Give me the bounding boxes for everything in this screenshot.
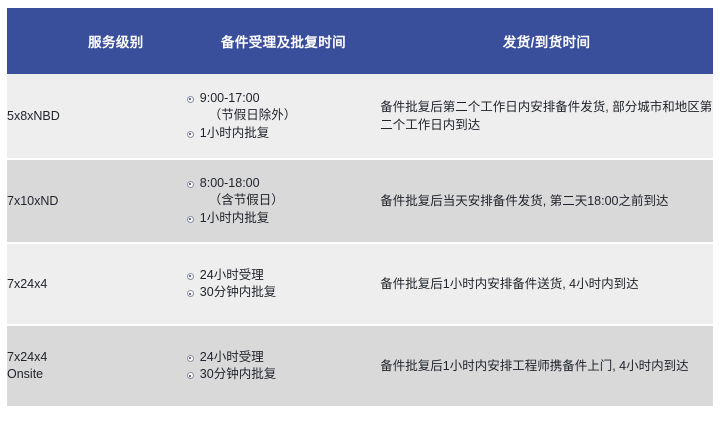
list-item-label: 24小时受理 [200, 268, 264, 282]
service-level-table: 服务级别 备件受理及批复时间 发货/到货时间 5x8xNBD 9:00-17:0… [7, 8, 713, 406]
column-header-acceptance-time: 备件受理及批复时间 [187, 8, 380, 74]
table-row: 7x24x4 24小时受理 30分钟内批复 备件批复后1小时内安排备件送货, 4… [7, 244, 713, 326]
radio-bullet-icon [187, 96, 194, 103]
column-header-service-level: 服务级别 [7, 8, 187, 74]
cell-shipping-time: 备件批复后第二个工作日内安排备件发货, 部分城市和地区第二个工作日内到达 [380, 74, 713, 160]
list-item-label: 30分钟内批复 [200, 285, 276, 299]
radio-bullet-icon [187, 290, 194, 297]
table-row: 5x8xNBD 9:00-17:00 （节假日除外） 1小时内批复 备件批复后第… [7, 74, 713, 160]
table-header-row: 服务级别 备件受理及批复时间 发货/到货时间 [7, 8, 713, 74]
radio-bullet-icon [187, 131, 194, 138]
radio-bullet-icon [187, 273, 194, 280]
list-item: 1小时内批复 [187, 125, 380, 143]
list-item: 8:00-18:00 [187, 175, 380, 193]
table-row: 7x24x4 Onsite 24小时受理 30分钟内批复 备件批复后1小时内安排… [7, 326, 713, 406]
cell-service-level: 7x24x4 Onsite [7, 326, 187, 406]
radio-bullet-icon [187, 181, 194, 188]
list-item-label: 30分钟内批复 [200, 367, 276, 381]
list-item: 1小时内批复 [187, 210, 380, 228]
cell-shipping-time: 备件批复后1小时内安排备件送货, 4小时内到达 [380, 244, 713, 326]
column-header-shipping-time: 发货/到货时间 [380, 8, 713, 74]
bullet-list: 8:00-18:00 （含节假日） 1小时内批复 [187, 175, 380, 228]
table-header: 服务级别 备件受理及批复时间 发货/到货时间 [7, 8, 713, 74]
list-item: 30分钟内批复 [187, 366, 380, 384]
list-item: 9:00-17:00 [187, 90, 380, 108]
list-item-note: （节假日除外） [187, 107, 380, 125]
list-item: 24小时受理 [187, 267, 380, 285]
list-item: 24小时受理 [187, 349, 380, 367]
radio-bullet-icon [187, 372, 194, 379]
bullet-list: 24小时受理 30分钟内批复 [187, 267, 380, 302]
radio-bullet-icon [187, 216, 194, 223]
list-item-label: 1小时内批复 [200, 126, 269, 140]
list-item-label: 9:00-17:00 [200, 91, 260, 105]
table-body: 5x8xNBD 9:00-17:00 （节假日除外） 1小时内批复 备件批复后第… [7, 74, 713, 406]
list-item-label: 8:00-18:00 [200, 176, 260, 190]
list-item-label: 1小时内批复 [200, 211, 269, 225]
cell-service-level: 5x8xNBD [7, 74, 187, 160]
table-row: 7x10xND 8:00-18:00 （含节假日） 1小时内批复 备件批复后当天… [7, 160, 713, 244]
radio-bullet-icon [187, 355, 194, 362]
list-item: 30分钟内批复 [187, 284, 380, 302]
cell-acceptance-time: 24小时受理 30分钟内批复 [187, 244, 380, 326]
bullet-list: 9:00-17:00 （节假日除外） 1小时内批复 [187, 90, 380, 143]
cell-service-level: 7x10xND [7, 160, 187, 244]
list-item-label: 24小时受理 [200, 350, 264, 364]
cell-service-level: 7x24x4 [7, 244, 187, 326]
cell-shipping-time: 备件批复后1小时内安排工程师携备件上门, 4小时内到达 [380, 326, 713, 406]
list-item-note: （含节假日） [187, 192, 380, 210]
cell-shipping-time: 备件批复后当天安排备件发货, 第二天18:00之前到达 [380, 160, 713, 244]
cell-acceptance-time: 8:00-18:00 （含节假日） 1小时内批复 [187, 160, 380, 244]
cell-acceptance-time: 24小时受理 30分钟内批复 [187, 326, 380, 406]
cell-acceptance-time: 9:00-17:00 （节假日除外） 1小时内批复 [187, 74, 380, 160]
bullet-list: 24小时受理 30分钟内批复 [187, 349, 380, 384]
